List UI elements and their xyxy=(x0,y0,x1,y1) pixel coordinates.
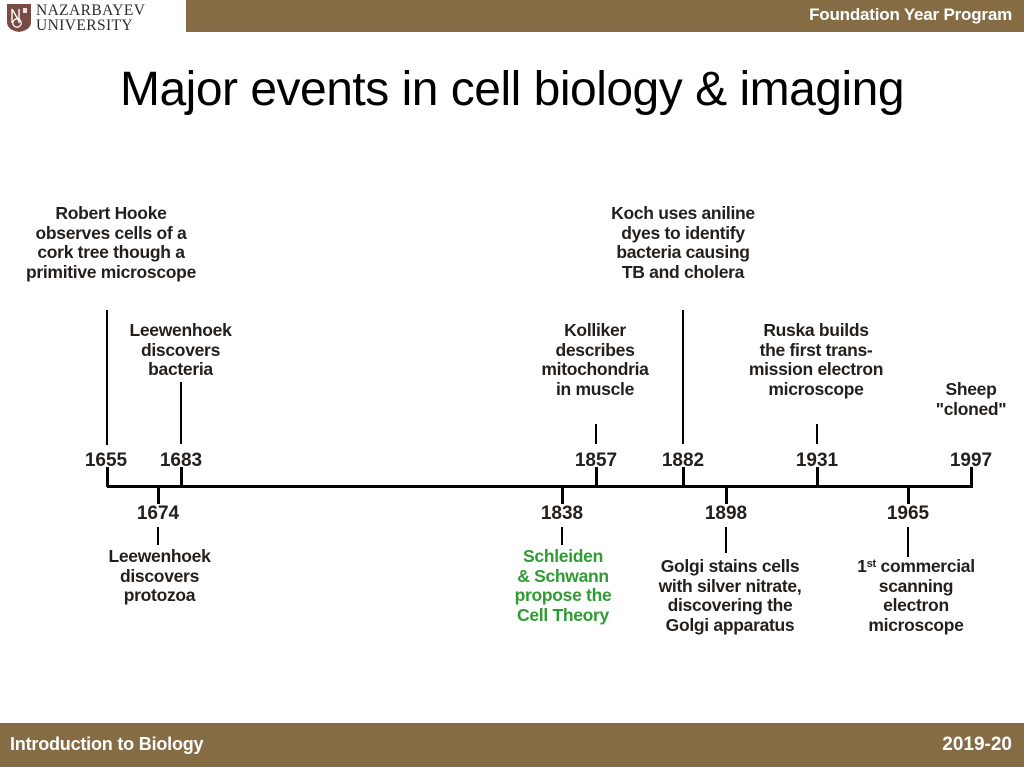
event-year-1882: 1882 xyxy=(643,450,723,472)
axis-tick-1674 xyxy=(157,486,160,504)
event-stem-1838 xyxy=(561,527,563,545)
event-label-1965: 1st commercial scanning electron microsc… xyxy=(826,557,1006,635)
event-label-1857: Kolliker describes mitochondria in muscl… xyxy=(520,321,670,399)
event-label-1997: Sheep "cloned" xyxy=(921,380,1021,419)
axis-tick-1965 xyxy=(907,486,910,504)
event-label-1931: Ruska builds the first trans- mission el… xyxy=(716,321,916,399)
event-year-1674: 1674 xyxy=(118,503,198,525)
footer-course-label: Introduction to Biology xyxy=(10,734,203,755)
event-year-1931: 1931 xyxy=(777,450,857,472)
event-label-1898: Golgi stains cells with silver nitrate, … xyxy=(637,557,823,635)
event-year-1683: 1683 xyxy=(141,450,221,472)
event-stem-1965 xyxy=(907,527,909,557)
event-label-1838: Schleiden & Schwann propose the Cell The… xyxy=(489,547,637,625)
timeline-diagram: Robert Hooke observes cells of a cork tr… xyxy=(0,0,1024,767)
event-stem-1898 xyxy=(725,527,727,553)
event-year-1965: 1965 xyxy=(868,503,948,525)
event-stem-1857 xyxy=(595,424,597,444)
event-label-1683: Leewenhoek discovers bacteria xyxy=(108,321,253,380)
event-year-1857: 1857 xyxy=(556,450,636,472)
footer-year-label: 2019-20 xyxy=(942,734,1012,756)
event-stem-1674 xyxy=(157,527,159,545)
event-label-1655: Robert Hooke observes cells of a cork tr… xyxy=(0,204,222,282)
event-year-1655: 1655 xyxy=(66,450,146,472)
footer-bar: Introduction to Biology 2019-20 xyxy=(0,723,1024,767)
event-label-1965-line1: 1st commercial scanning electron microsc… xyxy=(857,556,975,635)
axis-tick-1838 xyxy=(561,486,564,504)
event-stem-1931 xyxy=(816,424,818,444)
event-label-1674: Leewenhoek discovers protozoa xyxy=(87,547,232,606)
event-stem-1683 xyxy=(180,382,182,444)
event-label-1882: Koch uses aniline dyes to identify bacte… xyxy=(583,204,783,282)
event-stem-1882 xyxy=(682,310,684,444)
ordinal-suffix: st xyxy=(867,558,876,570)
timeline-axis xyxy=(107,485,973,488)
event-year-1997: 1997 xyxy=(931,450,1011,472)
event-year-1838: 1838 xyxy=(522,503,602,525)
event-year-1898: 1898 xyxy=(686,503,766,525)
axis-tick-1898 xyxy=(725,486,728,504)
